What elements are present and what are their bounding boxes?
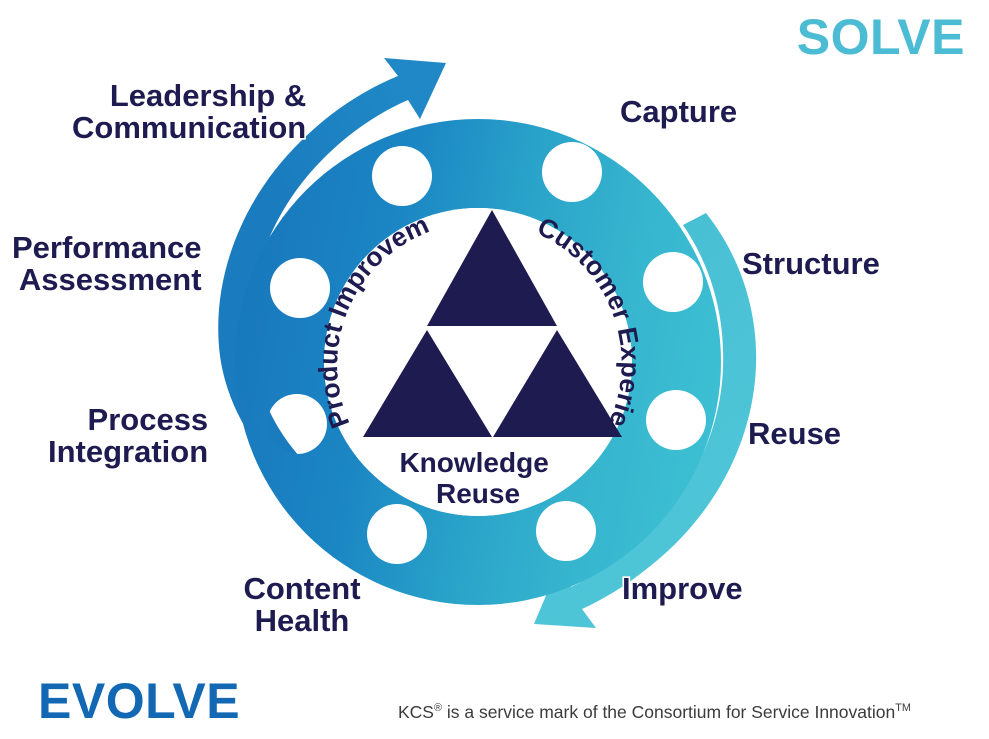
solve-heading: SOLVE [797, 12, 965, 62]
evolve-label-leadership-communication: Leadership & Communication [72, 80, 306, 143]
registered-mark-icon: ® [434, 702, 442, 714]
solve-label-structure: Structure [742, 248, 880, 280]
solve-label-improve: Improve [622, 573, 743, 605]
evolve-label-performance-assessment: Performance Assessment [12, 232, 202, 295]
evolve-label-process-integration-line1: Process [48, 404, 208, 436]
core-label-knowledge-reuse-line2: Reuse [436, 478, 520, 509]
evolve-label-performance-assessment-line1: Performance [12, 232, 202, 264]
evolve-label-content-health: Content Health [222, 573, 382, 636]
service-mark-footnote: KCS® is a service mark of the Consortium… [398, 703, 911, 721]
evolve-heading: EVOLVE [38, 676, 240, 726]
evolve-label-content-health-line1: Content [222, 573, 382, 605]
trademark-icon: TM [895, 702, 911, 714]
core-label-knowledge-reuse-line1: Knowledge [399, 447, 548, 478]
evolve-label-process-integration-line2: Integration [48, 436, 208, 468]
evolve-label-performance-assessment-line2: Assessment [12, 264, 202, 296]
solve-label-capture: Capture [620, 96, 737, 128]
footnote-kcs: KCS [398, 702, 434, 722]
kcs-wheel-diagram: Product Improvement Customer Experience … [0, 0, 989, 739]
evolve-label-process-integration: Process Integration [48, 404, 208, 467]
evolve-label-leadership-communication-line2: Communication [72, 112, 306, 144]
evolve-label-leadership-communication-line1: Leadership & [72, 80, 306, 112]
footnote-body: is a service mark of the Consortium for … [442, 702, 895, 722]
evolve-label-content-health-line2: Health [222, 605, 382, 637]
solve-label-reuse: Reuse [748, 418, 841, 450]
